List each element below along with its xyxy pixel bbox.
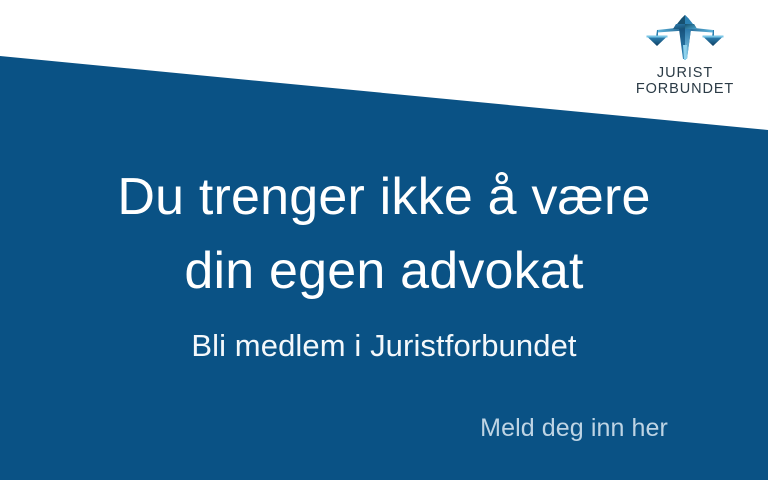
headline-line-1: Du trenger ikke å være [0,160,768,234]
promo-banner: JURIST FORBUNDET Du trenger ikke å være … [0,0,768,480]
signup-link[interactable]: Meld deg inn her [480,411,668,445]
headline-line-2: din egen advokat [0,234,768,308]
headline: Du trenger ikke å være din egen advokat [0,160,768,308]
subtitle: Bli medlem i Juristforbundet [0,326,768,366]
banner-content: Du trenger ikke å være din egen advokat … [0,0,768,480]
